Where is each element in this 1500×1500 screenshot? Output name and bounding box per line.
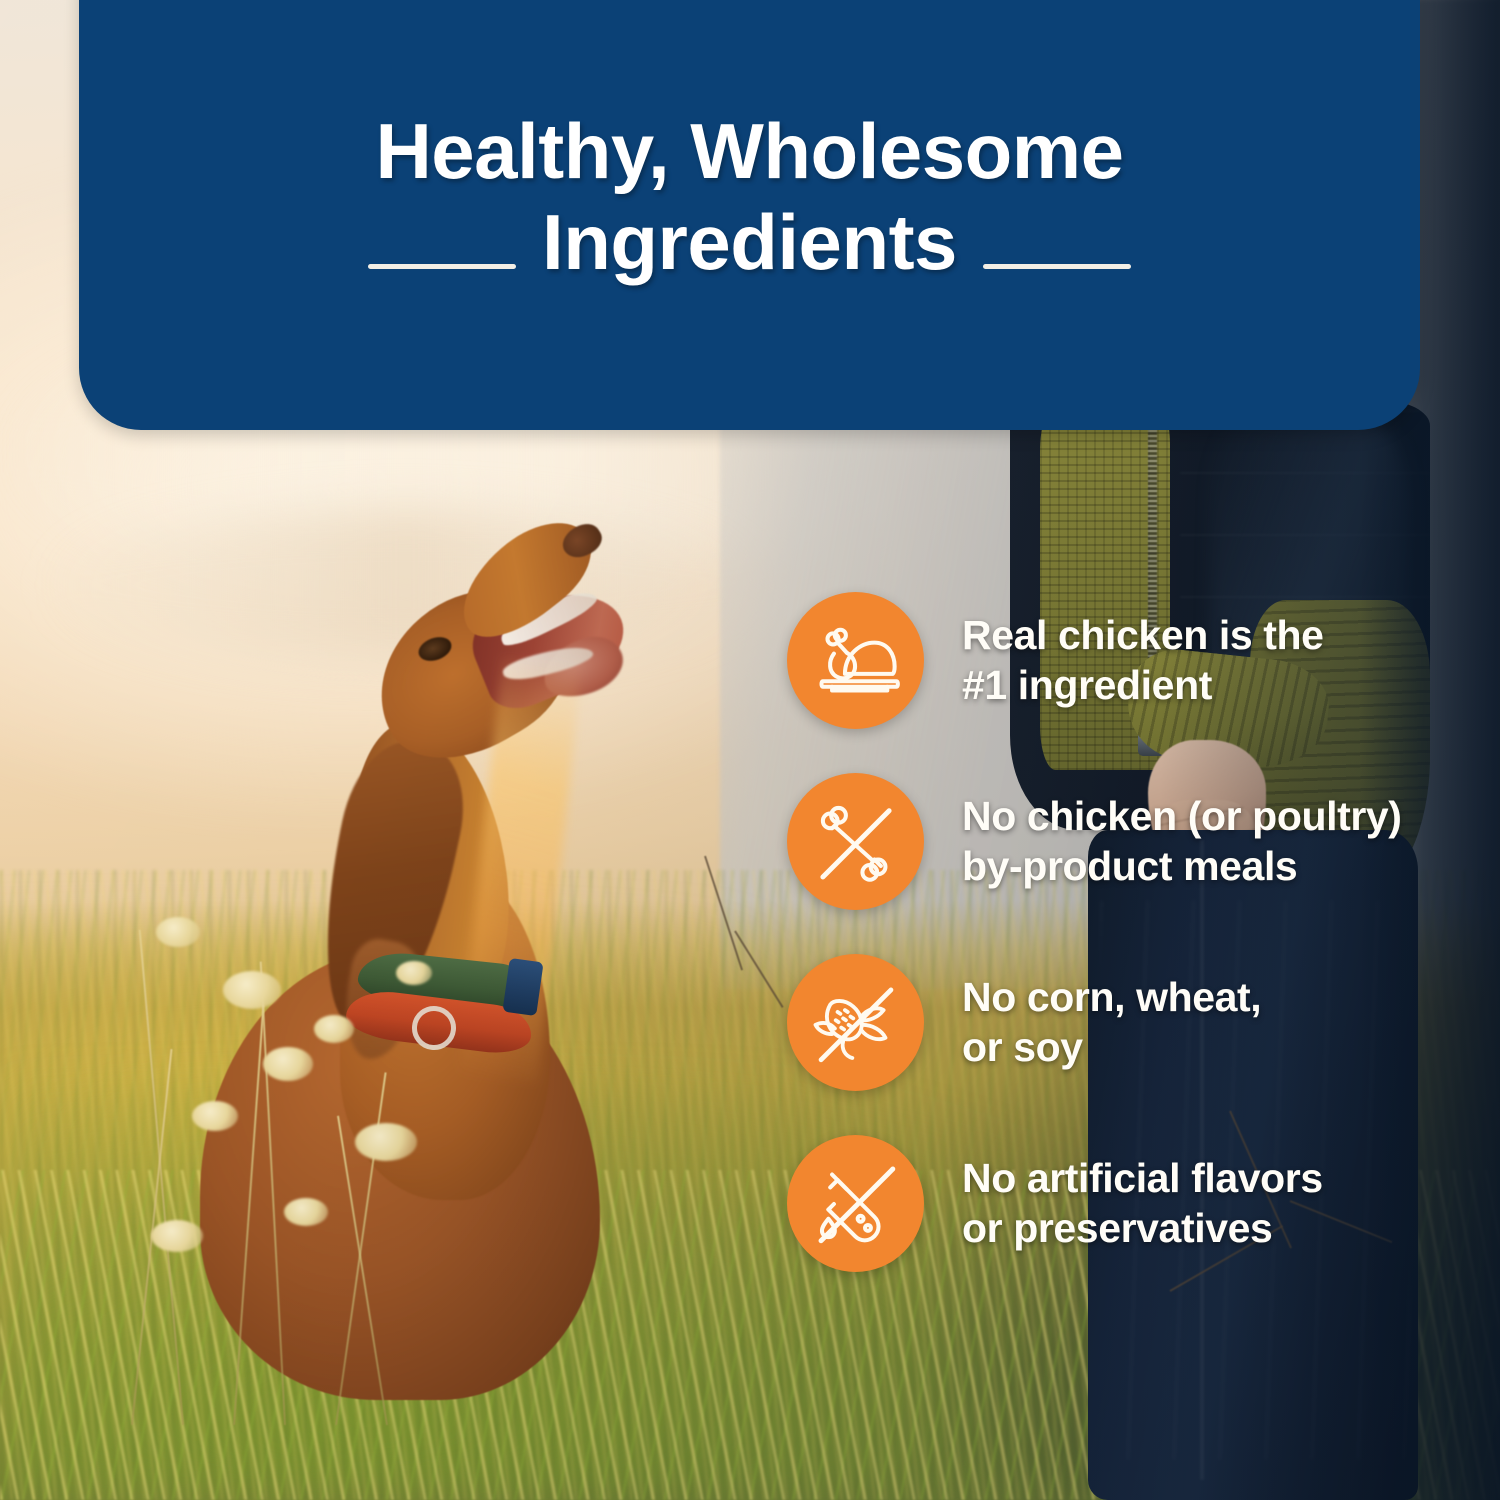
flower-bloom: [355, 1123, 417, 1161]
header-banner: Healthy, Wholesome Ingredients: [79, 0, 1420, 430]
feature-label: Real chicken is the #1 ingredient: [962, 611, 1324, 709]
feature-label: No corn, wheat, or soy: [962, 973, 1261, 1071]
feature-item: No corn, wheat, or soy: [787, 954, 1427, 1091]
no-corn-wheat-icon: [787, 954, 924, 1091]
banner-title-line-2-row: Ingredients: [79, 199, 1420, 286]
flower-bloom: [192, 1101, 238, 1131]
no-test-tube-icon: [787, 1135, 924, 1272]
feature-item: No artificial flavors or preservatives: [787, 1135, 1427, 1272]
flower-stem: [233, 1005, 264, 1425]
flower-stem: [259, 961, 285, 1425]
flower-bloom: [263, 1047, 313, 1081]
feature-item: Real chicken is the #1 ingredient: [787, 592, 1427, 729]
flower-stem: [139, 930, 184, 1425]
flower-bloom: [151, 1220, 203, 1252]
flower-bloom: [314, 1015, 354, 1043]
banner-title-line-2: Ingredients: [542, 199, 957, 286]
title-rule-right: [983, 264, 1131, 269]
banner-title: Healthy, Wholesome Ingredients: [79, 108, 1420, 287]
flower-bloom: [284, 1198, 328, 1226]
flower-bloom: [223, 971, 281, 1009]
no-bone-icon: [787, 773, 924, 910]
wildflower-cluster: [90, 885, 600, 1425]
feature-list: Real chicken is the #1 ingredient No: [787, 592, 1427, 1316]
feature-item: No chicken (or poultry) by-product meals: [787, 773, 1427, 910]
flower-bloom: [396, 961, 432, 985]
feature-label: No artificial flavors or preservatives: [962, 1154, 1323, 1252]
promo-image-canvas: Healthy, Wholesome Ingredients: [0, 0, 1500, 1500]
feature-label: No chicken (or poultry) by-product meals: [962, 792, 1402, 890]
banner-title-line-1: Healthy, Wholesome: [79, 108, 1420, 195]
flower-stem: [337, 1116, 388, 1426]
roast-chicken-platter-icon: [787, 592, 924, 729]
flower-bloom: [156, 917, 200, 947]
title-rule-left: [368, 264, 516, 269]
